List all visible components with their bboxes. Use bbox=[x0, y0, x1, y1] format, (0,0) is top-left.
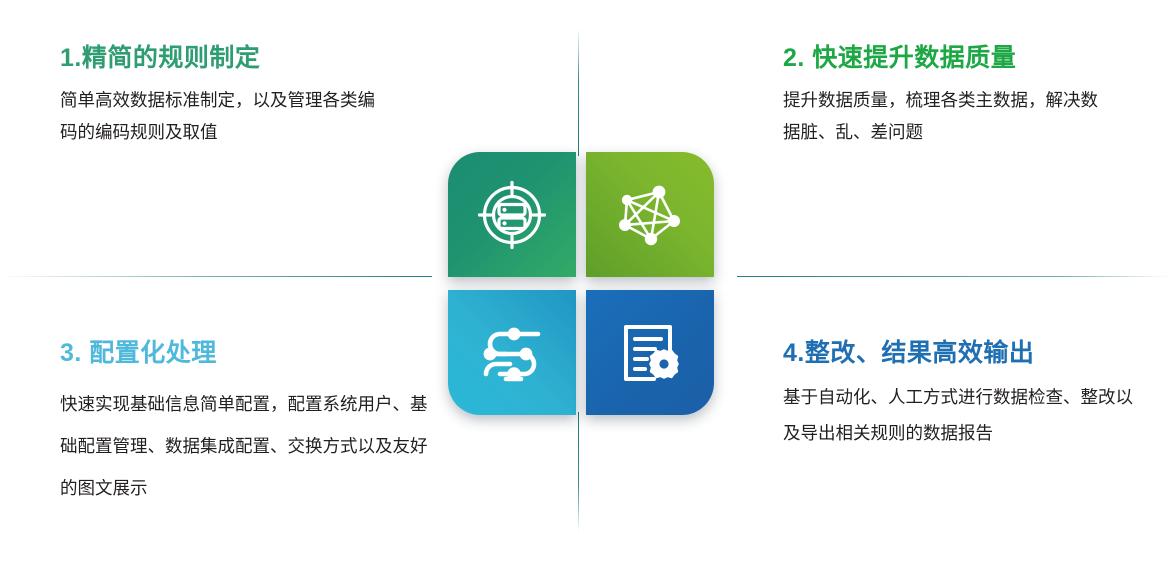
quadrant-1-title: 1.精简的规则制定 bbox=[60, 38, 390, 74]
divider-horizontal-right bbox=[737, 276, 1169, 277]
quadrant-3-body: 快速实现基础信息简单配置，配置系统用户、基础配置管理、数据集成配置、交换方式以及… bbox=[60, 383, 440, 509]
tile-quality[interactable] bbox=[586, 152, 714, 277]
quadrant-1-rules: 1.精简的规则制定 简单高效数据标准制定，以及管理各类编码的编码规则及取值 bbox=[60, 38, 390, 148]
routing-path-icon bbox=[476, 317, 548, 389]
divider-horizontal-left bbox=[0, 276, 432, 277]
tile-report[interactable] bbox=[586, 290, 714, 415]
tile-configuration[interactable] bbox=[448, 290, 576, 415]
divider-vertical-top bbox=[578, 28, 579, 156]
quadrant-4-title: 4.整改、结果高效输出 bbox=[783, 333, 1143, 369]
quadrant-4-output: 4.整改、结果高效输出 基于自动化、人工方式进行数据检查、整改以及导出相关规则的… bbox=[783, 333, 1143, 451]
quadrant-2-quality: 2. 快速提升数据质量 提升数据质量，梳理各类主数据，解决数据脏、乱、差问题 bbox=[783, 38, 1113, 148]
quadrant-2-body: 提升数据质量，梳理各类主数据，解决数据脏、乱、差问题 bbox=[783, 84, 1113, 148]
network-graph-icon bbox=[614, 179, 686, 251]
quadrant-3-title: 3. 配置化处理 bbox=[60, 333, 440, 369]
tile-rules[interactable] bbox=[448, 152, 576, 277]
target-database-icon bbox=[476, 179, 548, 251]
quadrant-4-body: 基于自动化、人工方式进行数据检查、整改以及导出相关规则的数据报告 bbox=[783, 379, 1143, 451]
quadrant-1-body: 简单高效数据标准制定，以及管理各类编码的编码规则及取值 bbox=[60, 84, 390, 148]
infographic-canvas: 1.精简的规则制定 简单高效数据标准制定，以及管理各类编码的编码规则及取值 2.… bbox=[0, 0, 1169, 569]
quadrant-2-title: 2. 快速提升数据质量 bbox=[783, 38, 1113, 74]
quadrant-3-configuration: 3. 配置化处理 快速实现基础信息简单配置，配置系统用户、基础配置管理、数据集成… bbox=[60, 333, 440, 509]
document-gear-icon bbox=[614, 317, 686, 389]
center-tile-cluster bbox=[448, 152, 728, 415]
divider-vertical-bottom bbox=[578, 412, 579, 532]
